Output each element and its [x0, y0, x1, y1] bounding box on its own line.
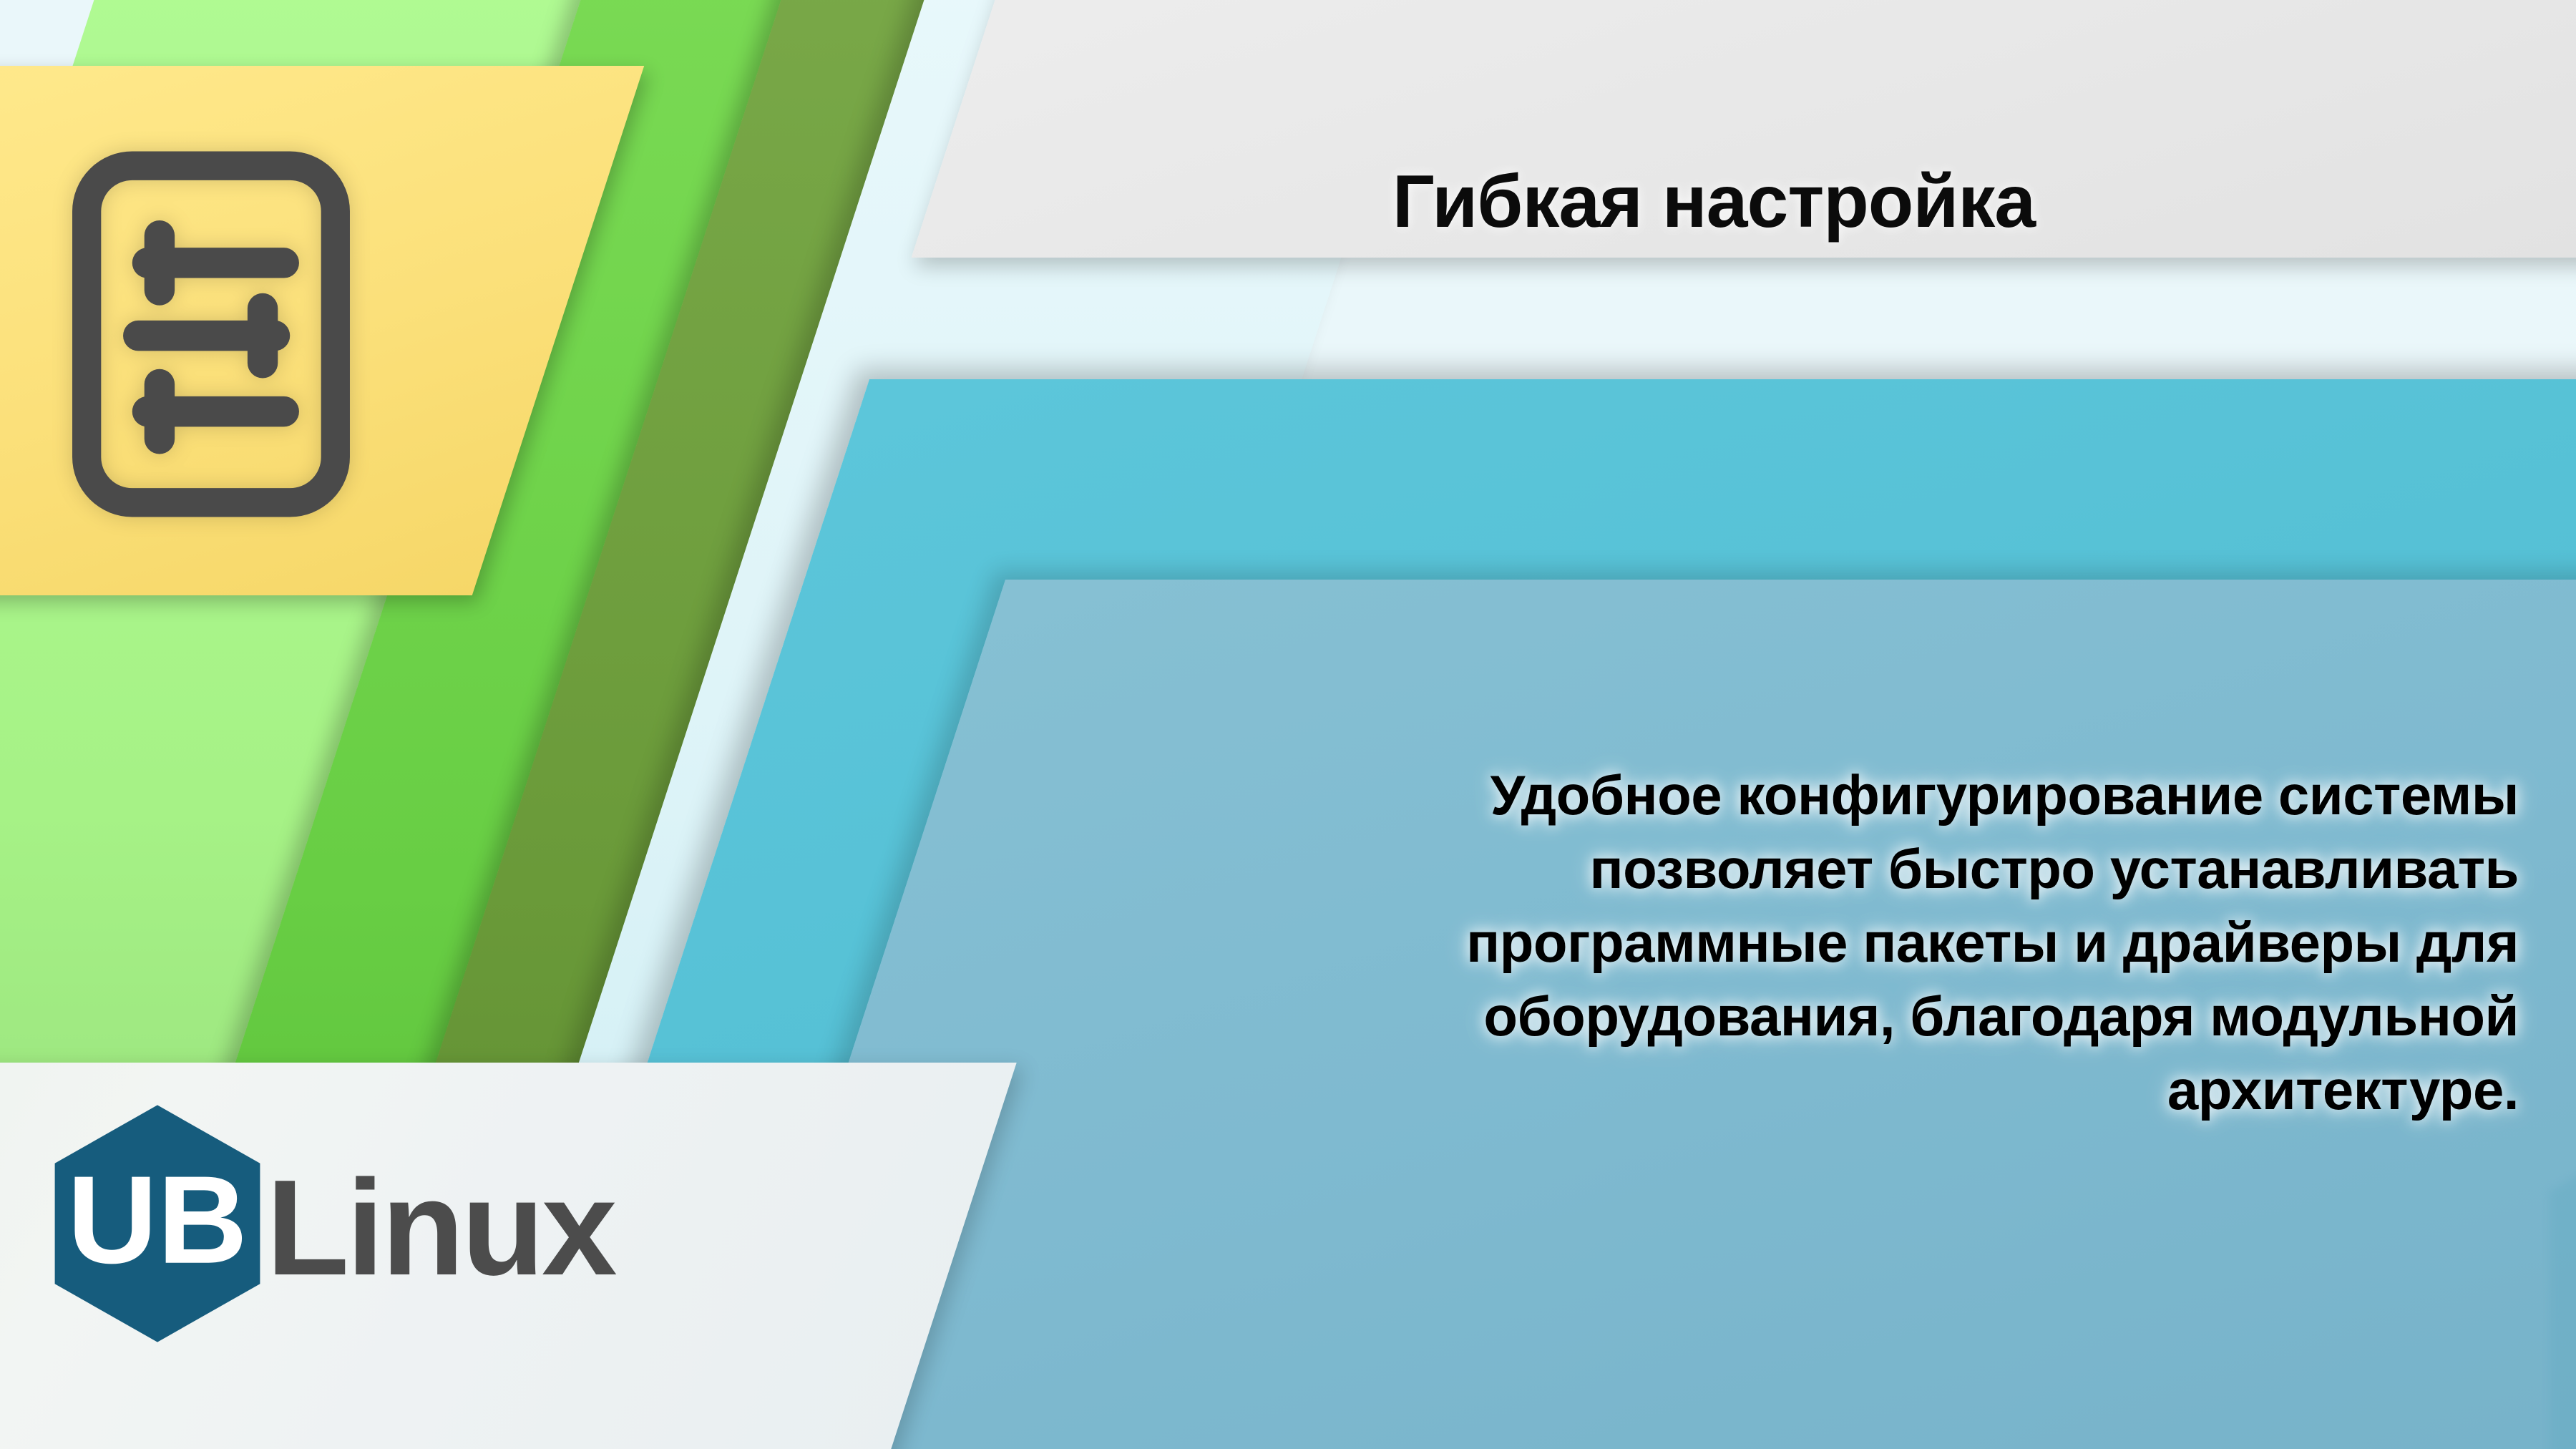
- ub-hexagon-watermark-icon: UB: [2535, 980, 2576, 1449]
- icon-card-yellow: [0, 66, 644, 595]
- brand-logo: UB Linux: [50, 1102, 615, 1345]
- slide-canvas: UB Гибкая настройка Удоб: [0, 0, 2576, 1449]
- body-paragraph: Удобное конфигурирование системы позволя…: [1238, 758, 2519, 1127]
- svg-text:UB: UB: [67, 1150, 248, 1289]
- ub-hexagon-icon: UB: [50, 1102, 265, 1345]
- title-panel: Гибкая настройка: [912, 0, 2576, 258]
- settings-sliders-icon: [57, 145, 365, 524]
- brand-wordmark: Linux: [266, 1160, 615, 1296]
- page-title: Гибкая настройка: [962, 165, 2576, 239]
- logo-panel: UB Linux: [0, 1063, 1017, 1449]
